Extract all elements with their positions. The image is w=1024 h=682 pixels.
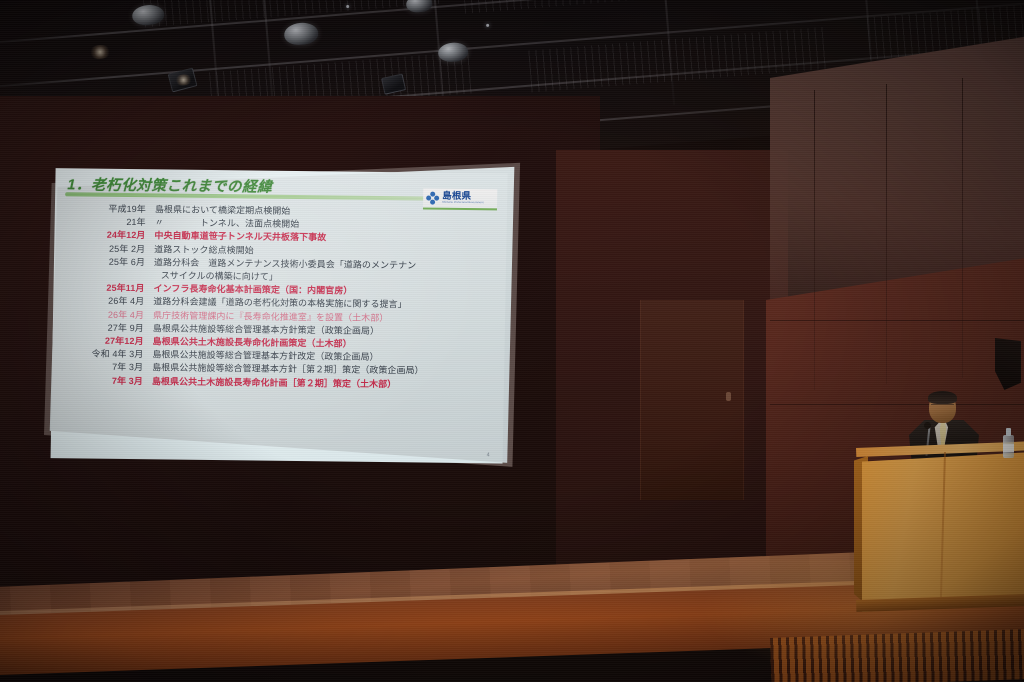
timeline-row-date: 平成19年 <box>63 202 155 216</box>
stage-front-grille <box>770 628 1024 682</box>
door-handle <box>726 392 731 401</box>
slide-header: 1．老朽化対策これまでの経緯 島根県 Shimane Prefectural G… <box>63 173 499 204</box>
timeline-rows: 平成19年島根県において橋梁定期点検開始21年〃 トンネル、法面点検開始24年1… <box>60 202 499 392</box>
timeline-row-date: 7年 3月 <box>60 374 152 388</box>
presenter-hair <box>928 391 957 404</box>
timeline-row-date: 27年12月 <box>60 334 152 348</box>
theatre-spotlight <box>283 22 319 47</box>
logo-name-en: Shimane Prefectural Government <box>442 202 484 205</box>
timeline-row-date: 21年 <box>63 215 155 229</box>
timeline-row-date: 24年12月 <box>62 229 154 243</box>
shimane-prefecture-logo: 島根県 Shimane Prefectural Government <box>423 188 497 210</box>
shimane-prefecture-flower-mark <box>426 192 439 205</box>
timeline-row-date: 27年 9月 <box>61 321 153 335</box>
projection-screen: 1．老朽化対策これまでの経緯 島根県 Shimane Prefectural G… <box>44 146 522 482</box>
timeline-row-date: 25年11月 <box>61 281 153 295</box>
bottle-cap <box>1006 428 1011 436</box>
timeline-row-date: 令和 4年 3月 <box>60 347 152 361</box>
eyeglasses-icon <box>931 404 954 408</box>
timeline-row-date: 26年 4月 <box>61 295 153 309</box>
slide-page-number: 4 <box>487 452 490 458</box>
microphone-capsule <box>924 422 931 429</box>
water-bottle <box>1003 428 1014 458</box>
timeline-row-date: 25年 2月 <box>62 242 154 256</box>
projected-slide: 1．老朽化対策これまでの経緯 島根県 Shimane Prefectural G… <box>38 146 522 488</box>
auditorium-scene: 1．老朽化対策これまでの経緯 島根県 Shimane Prefectural G… <box>0 0 1024 682</box>
slide-canvas: 1．老朽化対策これまでの経緯 島根県 Shimane Prefectural G… <box>51 168 508 463</box>
timeline-row-text: 島根県公共土木施設長寿命化計画［第２期］策定（土木部） <box>152 375 496 392</box>
timeline-row-date: 7年 3月 <box>60 361 152 375</box>
timeline-row-date: 26年 4月 <box>61 308 153 322</box>
timeline-row-date: 25年 6月 <box>62 255 154 269</box>
theatre-spotlight <box>406 0 433 13</box>
